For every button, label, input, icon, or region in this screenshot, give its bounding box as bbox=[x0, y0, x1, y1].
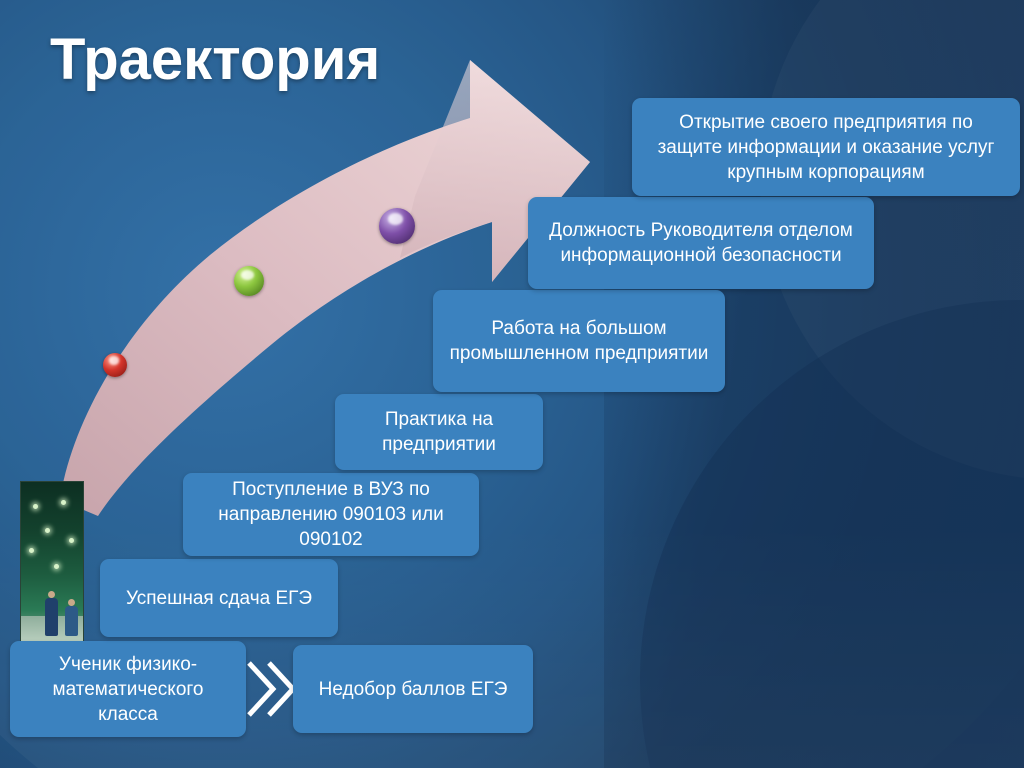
step-box-university[interactable]: Поступление в ВУЗ по направлению 090103 … bbox=[183, 473, 479, 556]
marker-green-icon bbox=[234, 266, 264, 296]
step-box-student[interactable]: Ученик физико-математического класса bbox=[10, 641, 246, 737]
step-box-head[interactable]: Должность Руководителя отделом информаци… bbox=[528, 197, 874, 289]
slide-canvas: Траектория bbox=[0, 0, 1024, 768]
step-box-work[interactable]: Работа на большом промышленном предприят… bbox=[433, 290, 725, 392]
step-box-ege[interactable]: Успешная сдача ЕГЭ bbox=[100, 559, 338, 637]
marker-purple-icon bbox=[379, 208, 415, 244]
marker-red-icon bbox=[103, 353, 127, 377]
step-box-business[interactable]: Открытие своего предприятия по защите ин… bbox=[632, 98, 1020, 196]
step-box-practice[interactable]: Практика на предприятии bbox=[335, 394, 543, 470]
classroom-photo bbox=[20, 481, 84, 643]
step-box-fail[interactable]: Недобор баллов ЕГЭ bbox=[293, 645, 533, 733]
